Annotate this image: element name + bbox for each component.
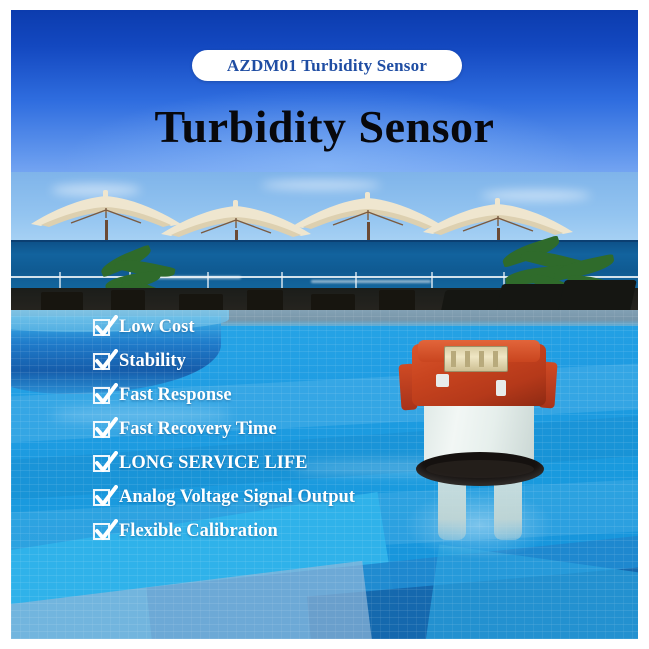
feature-label: Analog Voltage Signal Output	[119, 487, 355, 508]
turbidity-sensor-product-image	[396, 340, 571, 570]
sensor-o-ring-inner	[426, 460, 534, 478]
cloud-shape	[51, 184, 141, 196]
sensor-notch	[436, 374, 449, 387]
checkbox-checked-icon	[93, 387, 110, 404]
feature-label: Low Cost	[119, 317, 195, 338]
checkbox-checked-icon	[93, 319, 110, 336]
checkbox-checked-icon	[93, 353, 110, 370]
feature-label: Fast Response	[119, 385, 232, 406]
feature-label: Flexible Calibration	[119, 521, 278, 542]
checkbox-checked-icon	[93, 455, 110, 472]
product-model-badge: AZDM01 Turbidity Sensor	[192, 50, 462, 81]
checkbox-checked-icon	[93, 489, 110, 506]
poster-stage: AZDM01 Turbidity Sensor Turbidity Sensor	[11, 10, 638, 639]
checkbox-checked-icon	[93, 421, 110, 438]
sensor-connector	[444, 346, 508, 372]
feature-label: Stability	[119, 351, 186, 372]
product-reflection	[404, 490, 554, 560]
product-poster: AZDM01 Turbidity Sensor Turbidity Sensor	[0, 0, 649, 649]
feature-label: Fast Recovery Time	[119, 419, 277, 440]
product-model-badge-label: AZDM01 Turbidity Sensor	[227, 56, 427, 76]
feature-label: LONG SERVICE LIFE	[119, 453, 308, 474]
poster-headline: Turbidity Sensor	[11, 104, 638, 150]
cloud-shape	[261, 180, 381, 190]
surf-line	[311, 280, 431, 283]
checkbox-checked-icon	[93, 523, 110, 540]
sensor-notch	[496, 380, 506, 396]
feature-item: Low Cost	[93, 310, 553, 344]
